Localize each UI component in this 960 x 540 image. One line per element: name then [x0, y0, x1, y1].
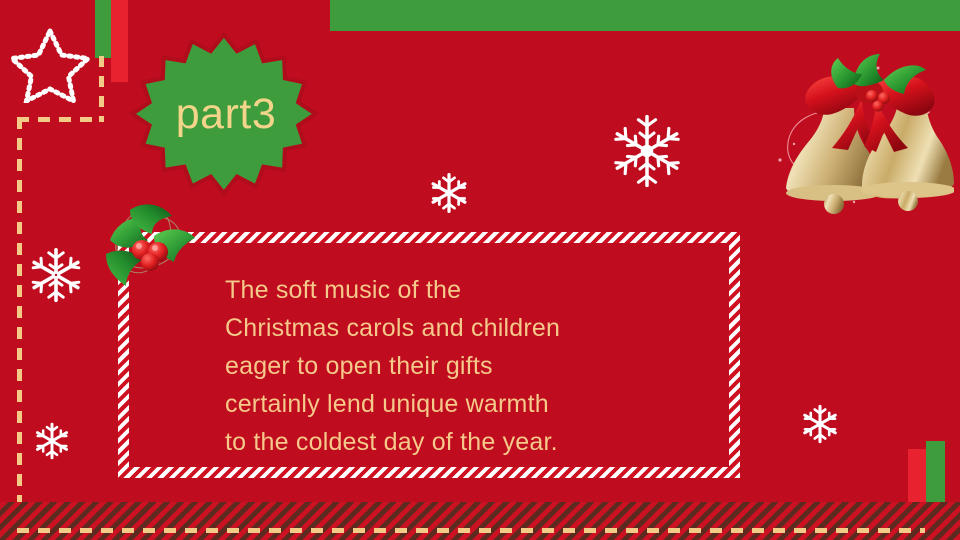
top-left-green-bar [95, 0, 111, 58]
snowflake-icon [26, 245, 86, 305]
snowflake-icon [608, 112, 686, 190]
bottom-diagonal-stripe-band [0, 502, 960, 540]
christmas-slide: part3 [0, 0, 960, 540]
dashed-guide-horizontal-top [17, 117, 104, 122]
dashed-guide-vertical-top [99, 56, 104, 122]
dashed-guide-vertical-left [17, 117, 22, 533]
snowflake-icon [426, 170, 472, 216]
snowflake-icon [798, 402, 842, 446]
top-left-red-bar [111, 0, 128, 82]
dotted-star-icon [8, 25, 92, 103]
section-badge-starburst[interactable] [128, 28, 320, 200]
snowflake-icon [31, 420, 73, 462]
top-green-band [330, 0, 960, 31]
holly-sprig-icon [96, 196, 198, 288]
christmas-bells-icon [758, 52, 954, 224]
quote-textbox-inner: The soft music of the Christmas carols a… [129, 243, 729, 467]
bottom-dashed-guide [17, 528, 925, 533]
quote-text: The soft music of the Christmas carols a… [225, 271, 703, 461]
quote-textbox[interactable]: The soft music of the Christmas carols a… [118, 232, 740, 478]
